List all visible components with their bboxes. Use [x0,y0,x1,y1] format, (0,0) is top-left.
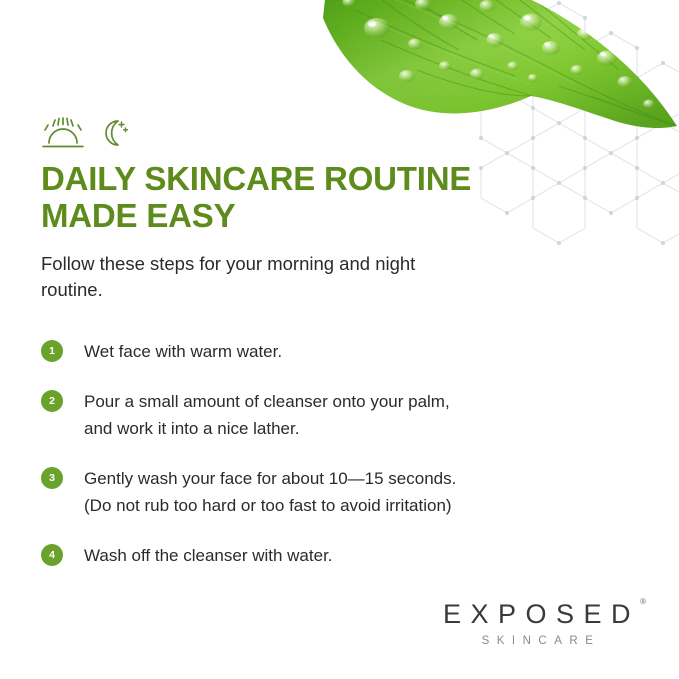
step-text-line: Wet face with warm water. [84,338,282,366]
step-item: 2 Pour a small amount of cleanser onto y… [41,388,601,443]
step-text-line: and work it into a nice lather. [84,415,450,443]
step-number-badge: 1 [41,340,63,362]
page-title-line-1: DAILY SKINCARE ROUTINE [41,160,471,197]
page-subtitle-line-1: Follow these steps for your morning and … [41,253,415,274]
water-droplets [343,0,656,109]
step-number-badge: 3 [41,467,63,489]
step-item: 3 Gently wash your face for about 10—15 … [41,465,601,520]
registered-trademark-icon: ® [640,598,646,606]
brand-name: EXPOSED ® [434,601,640,628]
infographic-canvas: DAILY SKINCARE ROUTINE MADE EASY Follow … [0,0,679,679]
step-item: 4 Wash off the cleanser with water. [41,542,601,570]
page-title-line-2: MADE EASY [41,197,235,234]
brand-name-text: EXPOSED [443,599,640,629]
step-text: Wash off the cleanser with water. [84,542,333,570]
step-text-line: Wash off the cleanser with water. [84,542,333,570]
step-item: 1 Wet face with warm water. [41,338,601,366]
page-subtitle: Follow these steps for your morning and … [41,251,471,305]
routine-icon-row [41,112,601,152]
step-text: Gently wash your face for about 10—15 se… [84,465,456,520]
step-text-line: (Do not rub too hard or too fast to avoi… [84,492,456,520]
step-text-line: Gently wash your face for about 10—15 se… [84,465,456,493]
step-text: Wet face with warm water. [84,338,282,366]
step-number-badge: 2 [41,390,63,412]
steps-list: 1 Wet face with warm water. 2 Pour a sma… [41,338,601,569]
step-number-badge: 4 [41,544,63,566]
brand-tagline: SKINCARE [434,636,640,648]
step-text-line: Pour a small amount of cleanser onto you… [84,388,450,416]
step-text: Pour a small amount of cleanser onto you… [84,388,450,443]
content-column: DAILY SKINCARE ROUTINE MADE EASY Follow … [41,112,601,569]
crescent-moon-stars-icon [97,116,129,148]
brand-logo: EXPOSED ® SKINCARE [434,601,640,648]
page-subtitle-line-2: routine. [41,279,103,300]
sunrise-icon [41,116,85,148]
page-title: DAILY SKINCARE ROUTINE MADE EASY [41,160,601,235]
